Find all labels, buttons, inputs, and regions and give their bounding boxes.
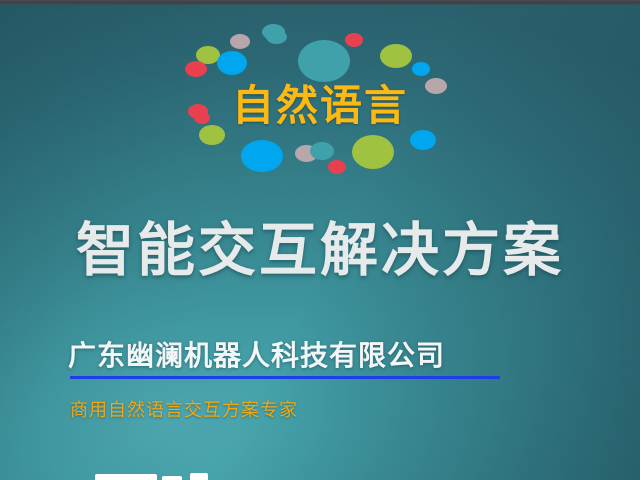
badge-word: 自然语言: [0, 72, 640, 133]
page-title: 智能交互解决方案: [0, 203, 640, 287]
decorative-dot: [241, 140, 283, 172]
bottom-chip: [95, 474, 157, 480]
company-underline-rule: [70, 376, 500, 379]
tagline: 商用自然语言交互方案专家: [70, 396, 298, 422]
decorative-dot: [328, 160, 346, 174]
company-name: 广东幽澜机器人科技有限公司: [68, 334, 445, 374]
decorative-dot: [352, 135, 394, 169]
bottom-chip: [190, 473, 208, 480]
presentation-slide: 自然语言 智能交互解决方案 广东幽澜机器人科技有限公司 商用自然语言交互方案专家: [0, 0, 640, 480]
bottom-clipped-chips: [0, 470, 640, 480]
decorative-dot: [380, 44, 412, 68]
decorative-dot: [266, 30, 287, 44]
decorative-dot: [230, 34, 250, 49]
bottom-chip: [162, 476, 182, 480]
decorative-dot: [345, 33, 363, 47]
decorative-dot: [310, 142, 334, 160]
decorative-dot: [410, 130, 436, 150]
